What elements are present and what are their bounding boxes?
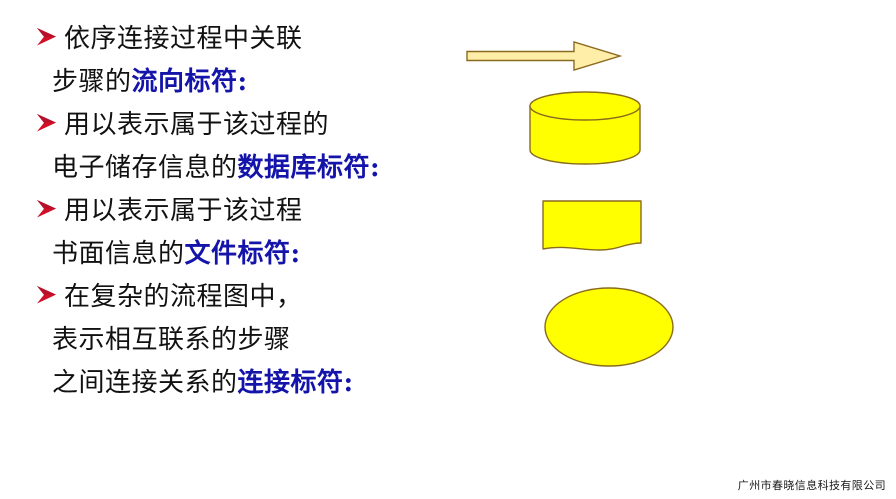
footer-company-label: 广州市春晓信息科技有限公司 [738, 477, 886, 493]
flow-arrow-symbol [466, 38, 622, 74]
connector-symbol [538, 284, 680, 370]
slide-canvas: 依序连接过程中关联 步骤的流向标符: 用以表示属于该过程的 电子储存信息的数据库… [0, 0, 896, 499]
symbol-gallery [0, 0, 896, 499]
document-symbol [538, 196, 646, 256]
database-symbol [525, 88, 645, 168]
